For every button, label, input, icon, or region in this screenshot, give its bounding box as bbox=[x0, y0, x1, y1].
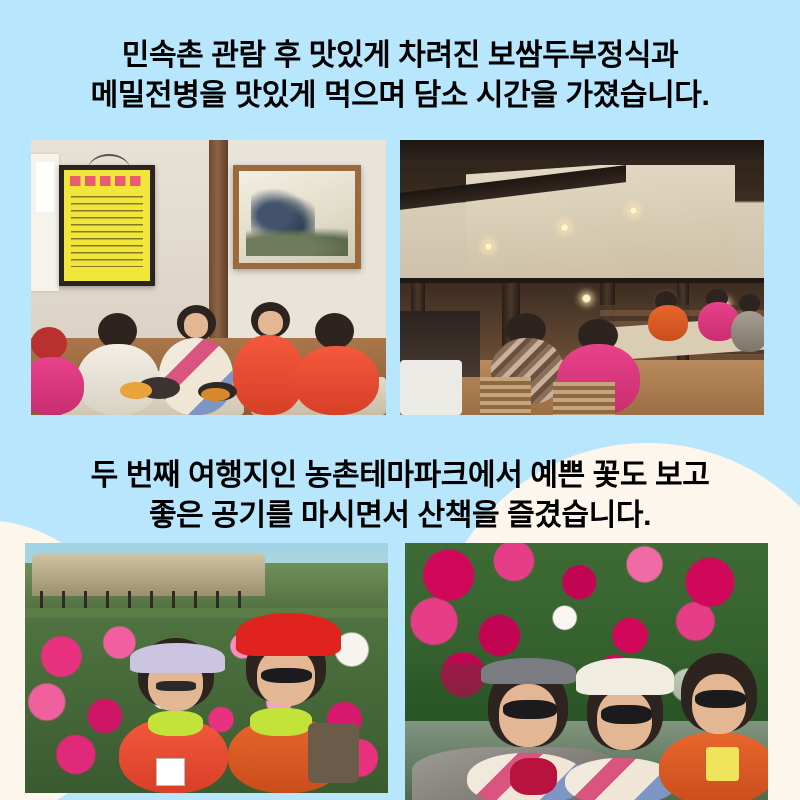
caption-text-bottom: 두 번째 여행지인 농촌테마파크에서 예쁜 꽃도 보고 좋은 공기를 마시면서 … bbox=[0, 456, 800, 536]
photo-restaurant-hall bbox=[400, 140, 764, 415]
photo-flower-three bbox=[405, 543, 768, 800]
photo-flower-two bbox=[25, 543, 388, 793]
photo-restaurant-hall-content bbox=[400, 140, 764, 415]
photo-restaurant-table bbox=[31, 140, 386, 415]
caption-text-top: 민속촌 관람 후 맛있게 차려진 보쌈두부정식과 메밀전병을 맛있게 먹으며 담… bbox=[0, 36, 800, 116]
photo-restaurant-table-content bbox=[31, 140, 386, 415]
photo-flower-three-content bbox=[405, 543, 768, 800]
photo-flower-two-content bbox=[25, 543, 388, 793]
photo-collage-card: 민속촌 관람 후 맛있게 차려진 보쌈두부정식과 메밀전병을 맛있게 먹으며 담… bbox=[0, 0, 800, 800]
